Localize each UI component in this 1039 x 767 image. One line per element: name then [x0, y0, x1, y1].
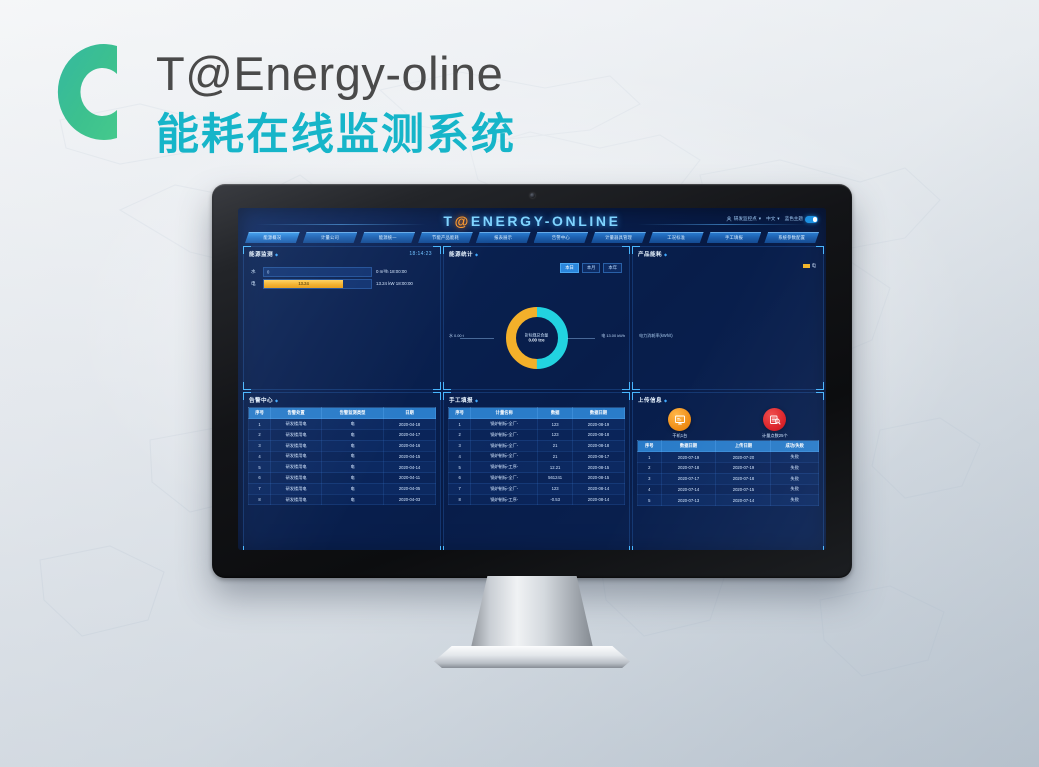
theme-switch[interactable]: 蓝色主题 — [785, 216, 818, 223]
table-cell: 失败 — [771, 473, 819, 484]
period-tab-1[interactable]: 本日 — [560, 263, 579, 273]
table-cell: 6 — [449, 473, 471, 484]
table-cell: 123 — [538, 483, 573, 494]
table-cell: 2020-04-16 — [384, 440, 436, 451]
legend-swatch — [803, 264, 810, 268]
table-cell: 失败 — [771, 484, 819, 495]
theme-toggle[interactable] — [805, 216, 818, 223]
corner-mark — [433, 246, 441, 254]
column-header: 数据日期 — [573, 408, 625, 419]
nav-item-7[interactable]: 计量器具管理 — [591, 232, 646, 243]
corner-mark — [816, 546, 824, 550]
language-label: 中文 — [766, 216, 775, 222]
table-cell: 2020-07-19 — [661, 452, 716, 463]
gauge-row-2: 电13.2413.24 kW 18:00:00 — [251, 279, 434, 289]
period-tab-3[interactable]: 本年 — [603, 263, 622, 273]
table-cell: 2020-07-18 — [661, 462, 716, 473]
table-cell: 失败 — [771, 452, 819, 463]
column-header: 序号 — [449, 408, 471, 419]
gauge-value: 13.24 kW 18:00:00 — [376, 281, 434, 286]
table-cell: 研发楼用电 — [271, 451, 322, 462]
table-cell: 123 — [538, 429, 573, 440]
table-row[interactable]: 42020-07-142020-07-15失败 — [638, 484, 819, 495]
corner-mark — [622, 382, 630, 390]
panel-dot-icon: ◆ — [664, 252, 667, 257]
nav-item-1[interactable]: 能源概况 — [245, 232, 300, 243]
table-cell: 1 — [638, 452, 662, 463]
monitor-screen: T@ENERGY-ONLINE 研发监控点 ▾ 中文 ▾ 蓝色主题 — [238, 208, 826, 550]
table-cell: 锅炉制标-全厂- — [471, 419, 538, 430]
table-cell: 研发楼用电 — [271, 494, 322, 505]
table-cell: 21 — [538, 451, 573, 462]
upload-caption-meters: 计量点数25个 — [762, 433, 788, 439]
table-cell: 2020-08-18 — [573, 440, 625, 451]
corner-mark — [632, 546, 640, 550]
gauge-value: 0 m³/h 18:00:00 — [376, 269, 434, 274]
table-cell: 2020-08-18 — [573, 429, 625, 440]
table-row[interactable]: 2锅炉制标-全厂-1232020-08-18 — [449, 429, 625, 440]
nav-item-5[interactable]: 报表展示 — [476, 232, 531, 243]
panel-dot-icon: ◆ — [275, 252, 278, 257]
panel-upload-info: 上传信息◆ 干机1台 — [632, 392, 824, 550]
table-cell: 2020-07-19 — [716, 462, 771, 473]
panel-dot-icon: ◆ — [475, 398, 478, 403]
table-row[interactable]: 3锅炉制标-全厂-212020-08-18 — [449, 440, 625, 451]
table-cell: 研发楼用电 — [271, 473, 322, 484]
panel-energy-monitor: 能源监测◆ 18:14:23 水00 m³/h 18:00:00电13.2413… — [243, 246, 441, 390]
table-cell: 研发楼用电 — [271, 462, 322, 473]
table-cell: 2020-04-11 — [384, 473, 436, 484]
panel-dot-icon: ◆ — [275, 398, 278, 403]
corner-mark — [816, 246, 824, 254]
table-cell: 12.21 — [538, 462, 573, 473]
table-cell: 561241 — [538, 473, 573, 484]
donut-chart: 折标煤总合量 0.00 tce — [502, 303, 572, 373]
corner-mark — [622, 546, 630, 550]
corner-mark — [443, 546, 451, 550]
table-cell: 2020-07-20 — [716, 452, 771, 463]
column-header: 序号 — [638, 441, 662, 452]
flame-at-icon: @ — [455, 213, 471, 229]
panel-dot-icon: ◆ — [475, 252, 478, 257]
table-row[interactable]: 52020-07-132020-07-14失败 — [638, 495, 819, 506]
column-header: 计量名称 — [471, 408, 538, 419]
table-cell: 7 — [249, 483, 271, 494]
webcam-icon — [530, 193, 535, 198]
table-cell: 锅炉制标-全厂- — [471, 429, 538, 440]
table-cell: 2020-07-14 — [661, 484, 716, 495]
column-header: 告警监测类型 — [322, 408, 384, 419]
table-cell: 2020-07-15 — [716, 484, 771, 495]
table-cell: 锅炉制标-工序- — [471, 462, 538, 473]
table-cell: 2 — [249, 429, 271, 440]
table-cell: 锅炉制标-工序- — [471, 494, 538, 505]
panel-title-manual-entry: 手工填报◆ — [449, 396, 478, 404]
table-cell: 6 — [249, 473, 271, 484]
upload-stat-meters: 计量点数25个 — [762, 408, 788, 439]
table-cell: 2020-04-15 — [384, 451, 436, 462]
panel-title-product-energy: 产品能耗◆ — [638, 250, 667, 258]
table-cell: 失败 — [771, 462, 819, 473]
table-cell: 锅炉制标-全厂- — [471, 483, 538, 494]
column-header: 数据 — [538, 408, 573, 419]
column-header: 上传日期 — [716, 441, 771, 452]
table-cell: 4 — [249, 451, 271, 462]
table-cell: 4 — [449, 451, 471, 462]
table-cell: 7 — [449, 483, 471, 494]
gauge-label: 电 — [251, 281, 259, 287]
table-cell: 锅炉制标-全厂- — [471, 440, 538, 451]
nav-item-4[interactable]: 节能产品能耗 — [418, 232, 473, 243]
nav-item-10[interactable]: 系统参数配置 — [764, 232, 819, 243]
table-cell: 2020-04-18 — [384, 419, 436, 430]
panel-title-alarm-center: 告警中心◆ — [249, 396, 278, 404]
c-ring-logo-icon — [47, 32, 125, 152]
corner-mark — [632, 382, 640, 390]
table-row[interactable]: 8锅炉制标-工序--0.532020-08-14 — [449, 494, 625, 505]
gauge-track: 13.24 — [263, 279, 372, 289]
column-header: 告警处置 — [271, 408, 322, 419]
table-cell: 失败 — [771, 495, 819, 506]
monitor-terminal-icon — [668, 408, 691, 431]
table-cell: 研发楼用电 — [271, 440, 322, 451]
panel-manual-entry: 手工填报◆ 序号计量名称数据数据日期1锅炉制标-全厂-1232020-08-19… — [443, 392, 630, 550]
manual-entry-table: 序号计量名称数据数据日期1锅炉制标-全厂-1232020-08-192锅炉制标-… — [448, 407, 625, 505]
callout-line-left — [460, 338, 494, 339]
table-cell: 电 — [322, 462, 384, 473]
panel-title-upload-info: 上传信息◆ — [638, 396, 667, 404]
chart-legend: 电 — [803, 263, 816, 269]
corner-mark — [816, 392, 824, 400]
table-row[interactable]: 5研发楼用电电2020-04-14 — [249, 462, 436, 473]
gauge-fill: 13.24 — [264, 280, 343, 288]
gauge-zero: 0 — [267, 269, 269, 274]
document-search-icon — [763, 408, 786, 431]
table-cell: 2020-07-18 — [716, 473, 771, 484]
table-row[interactable]: 32020-07-172020-07-18失败 — [638, 473, 819, 484]
table-row[interactable]: 12020-07-192020-07-20失败 — [638, 452, 819, 463]
monitor: T@ENERGY-ONLINE 研发监控点 ▾ 中文 ▾ 蓝色主题 — [212, 184, 852, 578]
table-row[interactable]: 5锅炉制标-工序-12.212020-08-15 — [449, 462, 625, 473]
table-row[interactable]: 1锅炉制标-全厂-1232020-08-19 — [449, 419, 625, 430]
brand-header: T@Energy-oline 能耗在线监测系统 — [44, 26, 604, 156]
corner-mark — [433, 546, 441, 550]
nav-item-6[interactable]: 告警中心 — [534, 232, 589, 243]
table-cell: -0.53 — [538, 494, 573, 505]
upload-table: 序号数据日期上传日期成功/失败12020-07-192020-07-20失败22… — [637, 440, 819, 506]
title-rest: ENERGY-ONLINE — [471, 213, 621, 229]
chevron-down-icon: ▾ — [759, 216, 761, 222]
y-axis-label: 电力消耗率(kWh/t) — [639, 333, 673, 339]
column-header: 序号 — [249, 408, 271, 419]
nav-item-9[interactable]: 手工填报 — [707, 232, 762, 243]
callout-label-right: 电 13.00 kWh — [601, 333, 625, 339]
donut-center-value: 0.00 tce — [525, 338, 548, 344]
table-cell: 电 — [322, 494, 384, 505]
panel-alarm-center: 告警中心◆ 序号告警处置告警监测类型日期1研发楼用电电2020-04-182研发… — [243, 392, 441, 550]
nav-item-8[interactable]: 工况标准 — [649, 232, 704, 243]
table-row[interactable]: 4研发楼用电电2020-04-15 — [249, 451, 436, 462]
title-prefix: T — [443, 213, 454, 229]
table-cell: 123 — [538, 419, 573, 430]
upload-stat-icons: 干机1台 计量点数25个 — [633, 408, 823, 439]
table-cell: 1 — [249, 419, 271, 430]
table-cell: 8 — [249, 494, 271, 505]
table-cell: 3 — [638, 473, 662, 484]
table-cell: 2020-07-13 — [661, 495, 716, 506]
table-cell: 2 — [638, 462, 662, 473]
table-cell: 21 — [538, 440, 573, 451]
monitor-stand-neck — [470, 576, 594, 652]
table-cell: 电 — [322, 429, 384, 440]
monitor-stand-base — [434, 646, 630, 668]
table-cell: 5 — [249, 462, 271, 473]
panel-energy-statistics: 能源统计◆ 本日本月本年 折标煤总合量 0.00 tce 水 0.00 t 电 … — [443, 246, 630, 390]
nav-item-3[interactable]: 能源统一 — [360, 232, 415, 243]
language-menu[interactable]: 中文 ▾ — [766, 216, 780, 222]
upload-stat-terminals: 干机1台 — [668, 408, 691, 439]
table-cell: 2020-04-05 — [384, 483, 436, 494]
table-cell: 3 — [249, 440, 271, 451]
panel-dot-icon: ◆ — [664, 398, 667, 403]
corner-mark — [243, 546, 251, 550]
table-cell: 8 — [449, 494, 471, 505]
table-row[interactable]: 8研发楼用电电2020-04-03 — [249, 494, 436, 505]
gauge-track: 0 — [263, 267, 372, 277]
corner-mark — [433, 382, 441, 390]
table-cell: 2020-08-15 — [573, 462, 625, 473]
corner-mark — [243, 382, 251, 390]
table-row[interactable]: 6研发楼用电电2020-04-11 — [249, 473, 436, 484]
table-cell: 锅炉制标-全厂- — [471, 451, 538, 462]
table-row[interactable]: 2研发楼用电电2020-04-17 — [249, 429, 436, 440]
table-header-row: 序号告警处置告警监测类型日期 — [249, 408, 436, 419]
table-cell: 锅炉制标-全厂- — [471, 473, 538, 484]
column-header: 数据日期 — [661, 441, 716, 452]
table-cell: 电 — [322, 473, 384, 484]
user-menu[interactable]: 研发监控点 ▾ — [726, 216, 761, 222]
table-cell: 1 — [449, 419, 471, 430]
column-header: 成功/失败 — [771, 441, 819, 452]
table-cell: 2 — [449, 429, 471, 440]
donut-center-label: 折标煤总合量 — [525, 332, 548, 337]
table-cell: 电 — [322, 451, 384, 462]
table-cell: 电 — [322, 419, 384, 430]
table-cell: 电 — [322, 440, 384, 451]
legend-label: 电 — [812, 263, 816, 269]
panel-product-energy: 产品能耗◆ 电 电力消耗率(kWh/t) — [632, 246, 824, 390]
user-label: 研发监控点 — [734, 216, 757, 222]
corner-mark — [816, 382, 824, 390]
alarm-table: 序号告警处置告警监测类型日期1研发楼用电电2020-04-182研发楼用电电20… — [248, 407, 436, 505]
table-row[interactable]: 6锅炉制标-全厂-5612412020-08-15 — [449, 473, 625, 484]
table-cell: 2020-08-17 — [573, 451, 625, 462]
table-cell: 3 — [449, 440, 471, 451]
corner-mark — [443, 382, 451, 390]
chevron-down-icon: ▾ — [777, 216, 779, 222]
table-cell: 2020-08-14 — [573, 483, 625, 494]
table-cell: 2020-04-17 — [384, 429, 436, 440]
period-tabs: 本日本月本年 — [560, 263, 622, 273]
brand-title: T@Energy-oline — [156, 50, 503, 97]
table-row[interactable]: 1研发楼用电电2020-04-18 — [249, 419, 436, 430]
table-header-row: 序号计量名称数据数据日期 — [449, 408, 625, 419]
table-cell: 电 — [322, 483, 384, 494]
corner-mark — [622, 392, 630, 400]
table-cell: 2020-04-14 — [384, 462, 436, 473]
gauge-label: 水 — [251, 269, 259, 275]
panel-title-energy-statistics: 能源统计◆ — [449, 250, 478, 258]
table-cell: 2020-07-17 — [661, 473, 716, 484]
nav-item-2[interactable]: 计量公司 — [303, 232, 358, 243]
table-cell: 研发楼用电 — [271, 483, 322, 494]
table-cell: 2020-04-03 — [384, 494, 436, 505]
brand-subtitle: 能耗在线监测系统 — [156, 114, 516, 157]
corner-mark — [433, 392, 441, 400]
table-cell: 2020-08-15 — [573, 473, 625, 484]
user-bar: 研发监控点 ▾ 中文 ▾ 蓝色主题 — [726, 216, 818, 223]
table-cell: 5 — [638, 495, 662, 506]
main-nav: 能源概况计量公司能源统一节能产品能耗报表展示告警中心计量器具管理工况标准手工填报… — [245, 232, 819, 243]
user-icon — [726, 216, 732, 222]
donut-center-text: 折标煤总合量 0.00 tce — [525, 332, 548, 343]
table-row[interactable]: 7研发楼用电电2020-04-05 — [249, 483, 436, 494]
table-cell: 研发楼用电 — [271, 429, 322, 440]
gauge-row-1: 水00 m³/h 18:00:00 — [251, 267, 434, 277]
theme-label: 蓝色主题 — [785, 216, 803, 222]
period-tab-2[interactable]: 本月 — [582, 263, 601, 273]
table-cell: 2020-08-14 — [573, 494, 625, 505]
dashboard-ui: T@ENERGY-ONLINE 研发监控点 ▾ 中文 ▾ 蓝色主题 — [238, 208, 826, 550]
table-row[interactable]: 7锅炉制标-全厂-1232020-08-14 — [449, 483, 625, 494]
table-row[interactable]: 3研发楼用电电2020-04-16 — [249, 440, 436, 451]
table-row[interactable]: 4锅炉制标-全厂-212020-08-17 — [449, 451, 625, 462]
column-header: 日期 — [384, 408, 436, 419]
callout-line-right — [567, 338, 595, 339]
table-row[interactable]: 22020-07-182020-07-19失败 — [638, 462, 819, 473]
callout-label-left: 水 0.00 t — [449, 333, 464, 339]
table-header-row: 序号数据日期上传日期成功/失败 — [638, 441, 819, 452]
panel-title-energy-monitor: 能源监测◆ — [249, 250, 278, 258]
upload-caption-terminals: 干机1台 — [668, 433, 691, 439]
table-cell: 5 — [449, 462, 471, 473]
table-cell: 4 — [638, 484, 662, 495]
table-cell: 研发楼用电 — [271, 419, 322, 430]
corner-mark — [622, 246, 630, 254]
clock-label: 18:14:23 — [409, 251, 432, 257]
table-cell: 2020-07-14 — [716, 495, 771, 506]
table-cell: 2020-08-19 — [573, 419, 625, 430]
